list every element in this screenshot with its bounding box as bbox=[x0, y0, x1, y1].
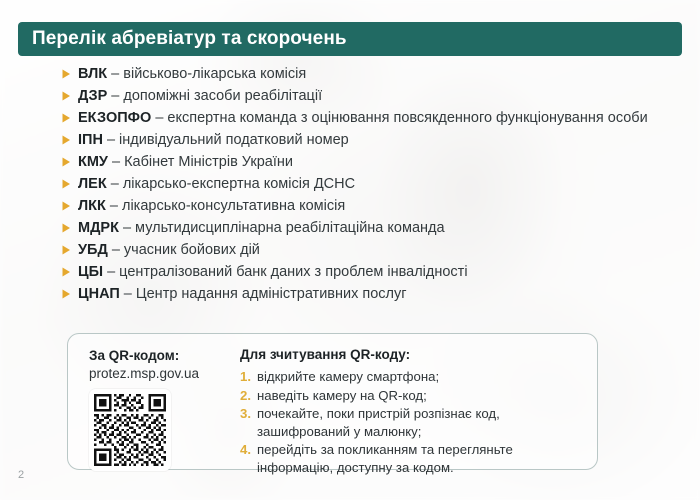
abbreviation-definition: – централізований банк даних з проблем і… bbox=[107, 264, 467, 280]
abbreviation-definition: – Центр надання адміністративних послуг bbox=[124, 286, 407, 302]
arrow-bullet-icon bbox=[62, 108, 78, 123]
abbreviation-text: ЦНАП – Центр надання адміністративних по… bbox=[78, 284, 407, 304]
arrow-bullet-icon bbox=[62, 240, 78, 255]
abbreviation-definition: – індивідуальний податковий номер bbox=[107, 132, 349, 148]
step-number: 4. bbox=[240, 441, 257, 459]
qr-url[interactable]: protez.msp.gov.ua bbox=[89, 365, 240, 383]
abbreviation-definition: – військово-лікарська комісія bbox=[111, 66, 306, 82]
arrow-bullet-icon bbox=[62, 196, 78, 211]
abbreviation-term: МДРК bbox=[78, 220, 119, 236]
abbreviation-item: ЛЕК – лікарсько-експертна комісія ДСНС bbox=[62, 174, 674, 194]
arrow-bullet-icon bbox=[62, 152, 78, 167]
arrow-bullet-icon bbox=[62, 130, 78, 145]
arrow-bullet-icon bbox=[62, 218, 78, 233]
arrow-bullet-icon bbox=[62, 284, 78, 299]
step-number: 1. bbox=[240, 368, 257, 386]
slide-title-bar: Перелік абревіатур та скорочень bbox=[18, 22, 682, 56]
page-number: 2 bbox=[18, 469, 24, 481]
abbreviation-definition: – експертна команда з оцінювання повсякд… bbox=[155, 110, 647, 126]
abbreviation-definition: – мультидисциплінарна реабілітаційна ком… bbox=[123, 220, 445, 236]
step-number: 2. bbox=[240, 387, 257, 405]
qr-heading: За QR-кодом: bbox=[89, 347, 240, 364]
abbreviation-item: ЕКЗОПФО – експертна команда з оцінювання… bbox=[62, 108, 674, 128]
abbreviation-term: ЦБІ bbox=[78, 264, 103, 280]
abbreviation-term: ВЛК bbox=[78, 66, 107, 82]
abbreviation-text: МДРК – мультидисциплінарна реабілітаційн… bbox=[78, 218, 445, 238]
abbreviation-item: ВЛК – військово-лікарська комісія bbox=[62, 64, 674, 84]
abbreviation-term: ІПН bbox=[78, 132, 103, 148]
step-item: 2.наведіть камеру на QR-код; bbox=[240, 387, 585, 405]
step-text: відкрийте камеру смартфона; bbox=[257, 368, 585, 386]
abbreviation-text: ІПН – індивідуальний податковий номер bbox=[78, 130, 349, 150]
step-text: наведіть камеру на QR-код; bbox=[257, 387, 585, 405]
abbreviation-item: ЦНАП – Центр надання адміністративних по… bbox=[62, 284, 674, 304]
abbreviation-term: ЦНАП bbox=[78, 286, 120, 302]
qr-code-icon[interactable] bbox=[89, 389, 171, 471]
abbreviation-item: ІПН – індивідуальний податковий номер bbox=[62, 130, 674, 150]
abbreviation-text: ВЛК – військово-лікарська комісія bbox=[78, 64, 306, 84]
abbreviation-item: МДРК – мультидисциплінарна реабілітаційн… bbox=[62, 218, 674, 238]
step-item: 1.відкрийте камеру смартфона; bbox=[240, 368, 585, 386]
abbreviation-term: УБД bbox=[78, 242, 108, 258]
qr-card-right: Для зчитування QR-коду: 1.відкрийте каме… bbox=[240, 334, 597, 469]
abbreviation-item: ДЗР – допоміжні засоби реабілітації bbox=[62, 86, 674, 106]
abbreviation-text: ЛКК – лікарсько-консультативна комісія bbox=[78, 196, 345, 216]
abbreviation-text: ЕКЗОПФО – експертна команда з оцінювання… bbox=[78, 108, 648, 128]
abbreviation-text: ДЗР – допоміжні засоби реабілітації bbox=[78, 86, 322, 106]
arrow-bullet-icon bbox=[62, 86, 78, 101]
abbreviation-item: КМУ – Кабінет Міністрів України bbox=[62, 152, 674, 172]
page-title: Перелік абревіатур та скорочень bbox=[32, 28, 347, 50]
qr-code-graphic bbox=[94, 394, 166, 466]
arrow-bullet-icon bbox=[62, 174, 78, 189]
abbreviation-term: ЛЕК bbox=[78, 176, 107, 192]
abbreviation-term: ЛКК bbox=[78, 198, 106, 214]
abbreviation-term: ЕКЗОПФО bbox=[78, 110, 151, 126]
abbreviation-text: УБД – учасник бойових дій bbox=[78, 240, 260, 260]
abbreviation-text: ЦБІ – централізований банк даних з пробл… bbox=[78, 262, 468, 282]
step-number: 3. bbox=[240, 405, 257, 423]
abbreviation-definition: – допоміжні засоби реабілітації bbox=[111, 88, 322, 104]
steps-list: 1.відкрийте камеру смартфона;2.наведіть … bbox=[240, 368, 585, 476]
arrow-bullet-icon bbox=[62, 64, 78, 79]
abbreviation-definition: – учасник бойових дій bbox=[112, 242, 260, 258]
arrow-bullet-icon bbox=[62, 262, 78, 277]
abbreviation-term: КМУ bbox=[78, 154, 108, 170]
qr-card-left: За QR-кодом: protez.msp.gov.ua bbox=[68, 334, 240, 469]
abbreviation-definition: – лікарсько-консультативна комісія bbox=[110, 198, 345, 214]
abbreviation-text: ЛЕК – лікарсько-експертна комісія ДСНС bbox=[78, 174, 355, 194]
abbreviation-definition: – Кабінет Міністрів України bbox=[112, 154, 293, 170]
abbreviation-definition: – лікарсько-експертна комісія ДСНС bbox=[111, 176, 355, 192]
abbreviation-term: ДЗР bbox=[78, 88, 107, 104]
qr-info-card: За QR-кодом: protez.msp.gov.ua bbox=[67, 333, 598, 470]
abbreviation-list: ВЛК – військово-лікарська комісіяДЗР – д… bbox=[62, 64, 674, 306]
steps-heading: Для зчитування QR-коду: bbox=[240, 346, 585, 363]
slide-root: Перелік абревіатур та скорочень ВЛК – ві… bbox=[0, 0, 700, 500]
step-text: перейдіть за покликанням та перегляньте … bbox=[257, 441, 585, 476]
step-item: 3.почекайте, поки пристрій розпізнає код… bbox=[240, 405, 585, 440]
abbreviation-item: ЛКК – лікарсько-консультативна комісія bbox=[62, 196, 674, 216]
step-text: почекайте, поки пристрій розпізнає код, … bbox=[257, 405, 585, 440]
abbreviation-item: ЦБІ – централізований банк даних з пробл… bbox=[62, 262, 674, 282]
step-item: 4.перейдіть за покликанням та перегляньт… bbox=[240, 441, 585, 476]
abbreviation-text: КМУ – Кабінет Міністрів України bbox=[78, 152, 293, 172]
abbreviation-item: УБД – учасник бойових дій bbox=[62, 240, 674, 260]
